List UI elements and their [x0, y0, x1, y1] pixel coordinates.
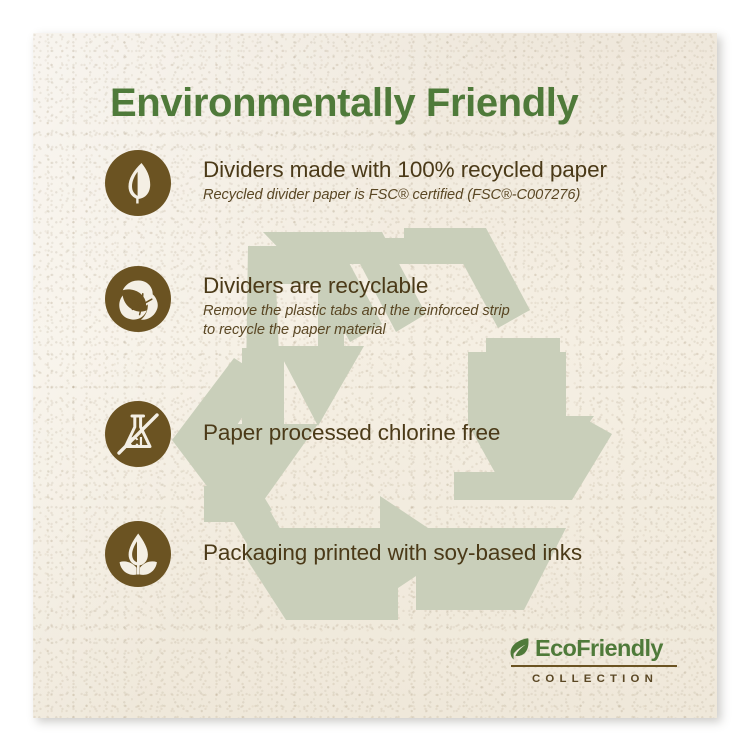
- feature-subtext: Remove the plastic tabs and the reinforc…: [203, 302, 510, 341]
- feature-headline: Dividers are recyclable: [203, 272, 510, 299]
- logo-subtitle: COLLECTION: [509, 673, 677, 685]
- feature-subtext-line: Remove the plastic tabs and the reinforc…: [203, 302, 510, 321]
- feature-headline: Packaging printed with soy-based inks: [203, 539, 582, 566]
- logo-wordmark-row: EcoFriendly: [509, 637, 677, 661]
- feature-row-recyclable: Dividers are recyclable Remove the plast…: [105, 266, 510, 341]
- feature-subtext-line: to recycle the paper material: [203, 321, 510, 340]
- sprout-icon: [105, 521, 171, 587]
- leaf-icon: [105, 150, 171, 216]
- paper-card: Environmentally Friendly Dividers made w…: [33, 33, 717, 718]
- feature-text: Paper processed chlorine free: [203, 401, 500, 446]
- logo-wordmark: EcoFriendly: [535, 637, 663, 661]
- feature-row-recycled-paper: Dividers made with 100% recycled paper R…: [105, 150, 607, 216]
- logo-divider: [511, 665, 677, 667]
- ecofriendly-logo: EcoFriendly COLLECTION: [509, 637, 677, 685]
- feature-row-soy-inks: Packaging printed with soy-based inks: [105, 521, 582, 587]
- feature-text: Dividers are recyclable Remove the plast…: [203, 266, 510, 341]
- feature-headline: Paper processed chlorine free: [203, 419, 500, 446]
- card-content: Environmentally Friendly Dividers made w…: [33, 33, 717, 718]
- feature-row-chlorine-free: CL Paper processed chlorine free: [105, 401, 500, 467]
- feature-text: Dividers made with 100% recycled paper R…: [203, 150, 607, 205]
- feature-subtext: Recycled divider paper is FSC® certified…: [203, 186, 607, 205]
- feature-text: Packaging printed with soy-based inks: [203, 521, 582, 566]
- leaf-icon: [509, 637, 530, 661]
- poster-canvas: Environmentally Friendly Dividers made w…: [0, 0, 750, 750]
- no-chlorine-flask-icon: CL: [105, 401, 171, 467]
- recycle-leaves-icon: [105, 266, 171, 332]
- feature-headline: Dividers made with 100% recycled paper: [203, 156, 607, 183]
- page-title: Environmentally Friendly: [110, 81, 578, 126]
- feature-subtext-line: Recycled divider paper is FSC® certified…: [203, 186, 607, 205]
